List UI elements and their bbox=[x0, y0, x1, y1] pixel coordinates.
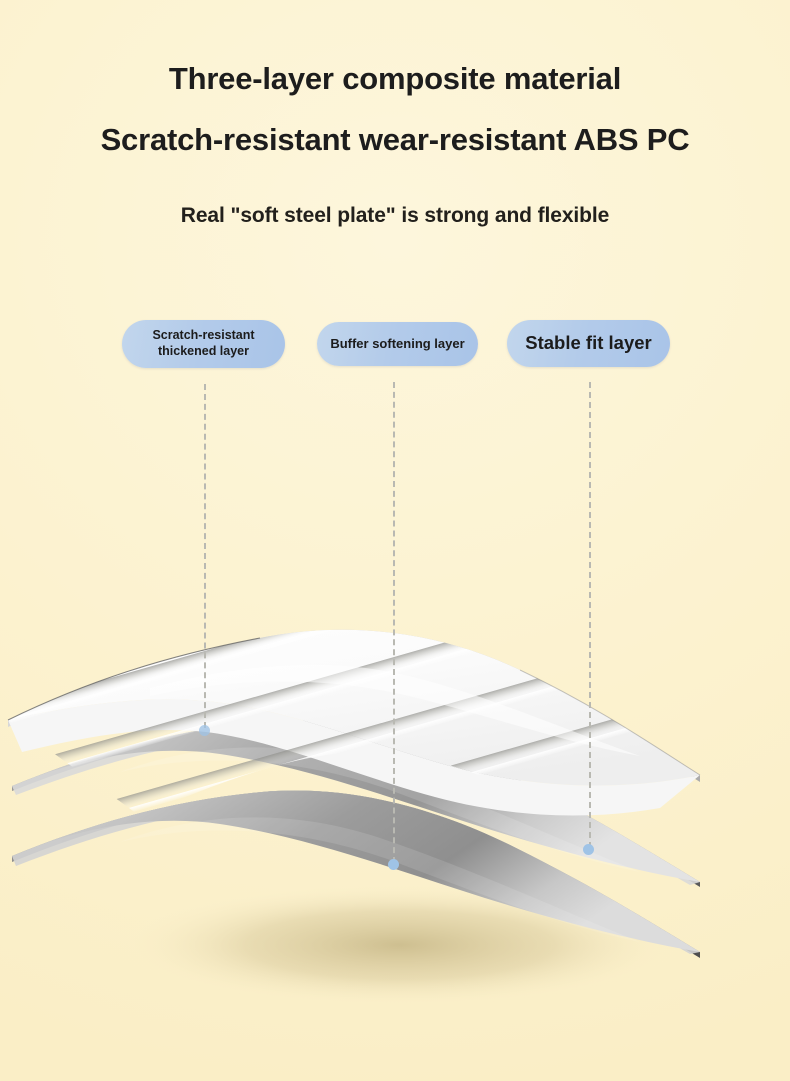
three-layer-composite-illustration bbox=[0, 560, 790, 1060]
layer-badge-label: Scratch-resistant thickened layer bbox=[152, 328, 254, 359]
layer-badge-stable-fit[interactable]: Stable fit layer bbox=[507, 320, 670, 367]
headings-block: Three-layer composite material Scratch-r… bbox=[0, 0, 790, 228]
connector-line-scratch-resistant bbox=[204, 384, 206, 728]
connector-dot-scratch-resistant bbox=[199, 725, 210, 736]
layer-badge-label-line-2: thickened layer bbox=[158, 344, 249, 358]
connector-dot-buffer-softening bbox=[388, 859, 399, 870]
layer-badge-buffer-softening[interactable]: Buffer softening layer bbox=[317, 322, 478, 366]
top-ridged-white-layer bbox=[0, 560, 790, 935]
page-title-line-1: Three-layer composite material bbox=[0, 0, 790, 96]
connector-line-buffer-softening bbox=[393, 382, 395, 863]
page-title-line-2: Scratch-resistant wear-resistant ABS PC bbox=[0, 96, 790, 157]
layer-badge-label-line-1: Scratch-resistant bbox=[152, 328, 254, 342]
layer-badge-label: Buffer softening layer bbox=[330, 336, 464, 352]
connector-dot-stable-fit bbox=[583, 844, 594, 855]
page-root: Three-layer composite material Scratch-r… bbox=[0, 0, 790, 1081]
connector-line-stable-fit bbox=[589, 382, 591, 848]
layer-badge-scratch-resistant[interactable]: Scratch-resistant thickened layer bbox=[122, 320, 285, 368]
layer-badge-label: Stable fit layer bbox=[525, 332, 651, 354]
page-subtitle: Real "soft steel plate" is strong and fl… bbox=[0, 157, 790, 228]
